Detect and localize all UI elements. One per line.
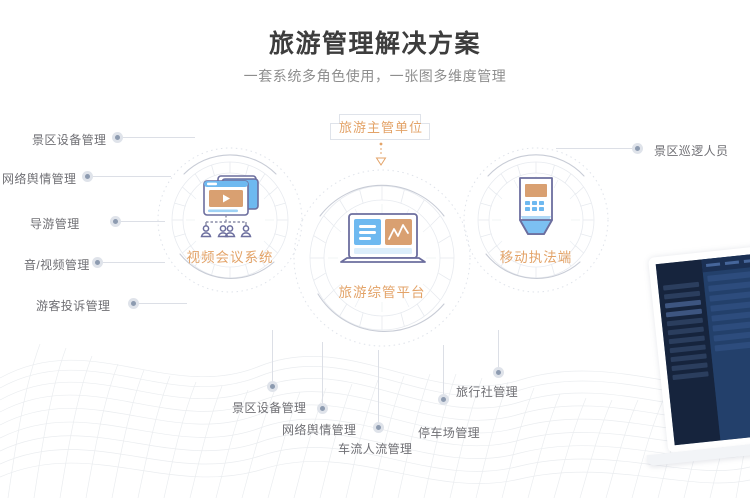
node-dot-left-0[interactable] bbox=[112, 132, 123, 143]
node-label-left-4[interactable]: 游客投诉管理 bbox=[36, 297, 110, 314]
mock-side-row bbox=[668, 327, 704, 336]
mock-side-row bbox=[666, 309, 702, 318]
ring-label-mobile-enforcement: 移动执法端 bbox=[462, 246, 610, 266]
connector-left-3 bbox=[103, 262, 165, 263]
connector-bottom-2 bbox=[378, 350, 379, 423]
node-dot-right-0[interactable] bbox=[632, 143, 643, 154]
solution-diagram-page: 旅游管理解决方案 一套系统多角色使用，一张图多维度管理 旅游主管单位 bbox=[0, 0, 750, 498]
ring-label-tourism-platform: 旅游综管平台 bbox=[292, 281, 472, 301]
node-dot-left-2[interactable] bbox=[110, 216, 121, 227]
connector-left-2 bbox=[121, 221, 165, 222]
node-label-right-0[interactable]: 景区巡逻人员 bbox=[654, 142, 728, 159]
node-dot-bottom-1[interactable] bbox=[317, 403, 328, 414]
mock-side-row bbox=[670, 353, 706, 362]
ring-mobile-enforcement[interactable]: 移动执法端 bbox=[462, 146, 610, 294]
node-label-left-2[interactable]: 导游管理 bbox=[30, 215, 80, 232]
mock-topbar bbox=[701, 248, 750, 272]
supervisor-unit-label: 旅游主管单位 bbox=[331, 115, 431, 141]
node-label-bottom-2[interactable]: 车流人流管理 bbox=[338, 440, 412, 457]
connector-bottom-0 bbox=[272, 330, 273, 382]
page-title: 旅游管理解决方案 bbox=[0, 24, 750, 60]
node-label-left-1[interactable]: 网络舆情管理 bbox=[2, 170, 76, 187]
mock-topbar-item bbox=[744, 259, 750, 263]
mock-side-row bbox=[663, 282, 699, 291]
node-dot-bottom-3[interactable] bbox=[438, 394, 449, 405]
connector-left-4 bbox=[139, 303, 187, 304]
mock-side-row bbox=[670, 344, 706, 353]
connector-left-1 bbox=[93, 176, 171, 177]
node-dot-left-3[interactable] bbox=[92, 257, 103, 268]
mock-side-row bbox=[672, 371, 708, 380]
connector-left-0 bbox=[123, 137, 195, 138]
mock-side-row bbox=[667, 318, 703, 327]
node-label-left-0[interactable]: 景区设备管理 bbox=[32, 131, 106, 148]
mock-side-row bbox=[664, 291, 700, 300]
ring-tourism-platform[interactable]: 旅游综管平台 bbox=[292, 168, 472, 348]
supervisor-unit-box[interactable]: 旅游主管单位 bbox=[330, 114, 430, 140]
node-label-bottom-1[interactable]: 网络舆情管理 bbox=[282, 421, 356, 438]
ring-video-conference[interactable]: 视频会议系统 bbox=[156, 146, 304, 294]
mock-side-row bbox=[669, 336, 705, 345]
mock-topbar-item bbox=[706, 263, 720, 267]
node-label-left-3[interactable]: 音/视频管理 bbox=[24, 256, 90, 273]
laptop-frame bbox=[648, 241, 750, 453]
node-label-bottom-0[interactable]: 景区设备管理 bbox=[232, 399, 306, 416]
connector-right-0 bbox=[556, 148, 632, 149]
node-dot-left-1[interactable] bbox=[82, 171, 93, 182]
video-conference-icon bbox=[194, 173, 268, 241]
mock-side-row bbox=[665, 300, 701, 309]
node-dot-bottom-4[interactable] bbox=[493, 367, 504, 378]
ring-label-video-conference: 视频会议系统 bbox=[156, 246, 304, 266]
connector-bottom-1 bbox=[322, 342, 323, 404]
mock-topbar-item bbox=[725, 261, 739, 265]
node-dot-bottom-2[interactable] bbox=[373, 422, 384, 433]
connector-bottom-4 bbox=[498, 330, 499, 368]
node-dot-bottom-0[interactable] bbox=[267, 381, 278, 392]
tourism-dashboard-preview[interactable] bbox=[648, 240, 750, 467]
laptop-screen bbox=[656, 248, 750, 445]
page-subtitle: 一套系统多角色使用，一张图多维度管理 bbox=[0, 66, 750, 86]
connector-bottom-3 bbox=[443, 345, 444, 395]
laptop-dashboard-icon bbox=[339, 212, 427, 272]
node-label-bottom-4[interactable]: 旅行社管理 bbox=[456, 383, 518, 400]
node-dot-left-4[interactable] bbox=[128, 298, 139, 309]
node-label-bottom-3[interactable]: 停车场管理 bbox=[418, 424, 480, 441]
triangle-down-icon bbox=[372, 142, 390, 168]
mock-side-row bbox=[671, 362, 707, 371]
mobile-device-icon bbox=[514, 176, 558, 238]
